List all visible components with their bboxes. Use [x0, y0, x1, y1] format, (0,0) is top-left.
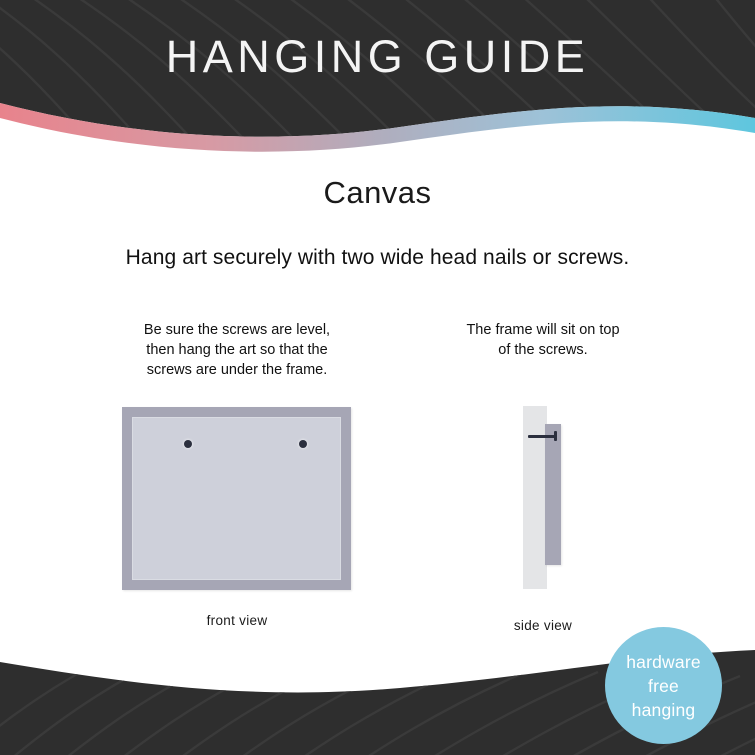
- badge-line-3: hanging: [632, 698, 696, 722]
- header-banner: HANGING GUIDE: [0, 0, 755, 160]
- side-view-column: The frame will sit on top of the screws.: [408, 320, 678, 360]
- side-view-wall: [523, 406, 547, 589]
- front-caption-line-2: then hang the art so that the: [76, 340, 398, 360]
- section-heading: Canvas: [0, 175, 755, 211]
- side-caption-line-2: of the screws.: [408, 340, 678, 360]
- front-caption-line-1: Be sure the screws are level,: [76, 320, 398, 340]
- side-view-screw-shaft-icon: [528, 435, 557, 438]
- side-view-caption: The frame will sit on top of the screws.: [408, 320, 678, 360]
- intro-text: Hang art securely with two wide head nai…: [0, 246, 755, 270]
- side-caption-line-1: The frame will sit on top: [408, 320, 678, 340]
- side-view-screw-head-icon: [554, 431, 557, 441]
- front-view-column: Be sure the screws are level, then hang …: [76, 320, 398, 380]
- badge-line-1: hardware: [626, 650, 701, 674]
- front-view-caption: Be sure the screws are level, then hang …: [76, 320, 398, 380]
- badge-line-2: free: [648, 674, 679, 698]
- screw-dot-left-icon: [184, 440, 192, 448]
- screw-dot-right-icon: [299, 440, 307, 448]
- side-view-frame: [545, 424, 561, 565]
- hanging-guide-page: HANGING GUIDE Canvas Hang art securely w…: [0, 0, 755, 755]
- front-caption-line-3: screws are under the frame.: [76, 360, 398, 380]
- front-view-canvas-panel: [132, 417, 341, 580]
- front-view-frame-diagram: [122, 407, 351, 590]
- page-title: HANGING GUIDE: [0, 28, 755, 86]
- hardware-free-hanging-badge: hardware free hanging: [605, 627, 722, 744]
